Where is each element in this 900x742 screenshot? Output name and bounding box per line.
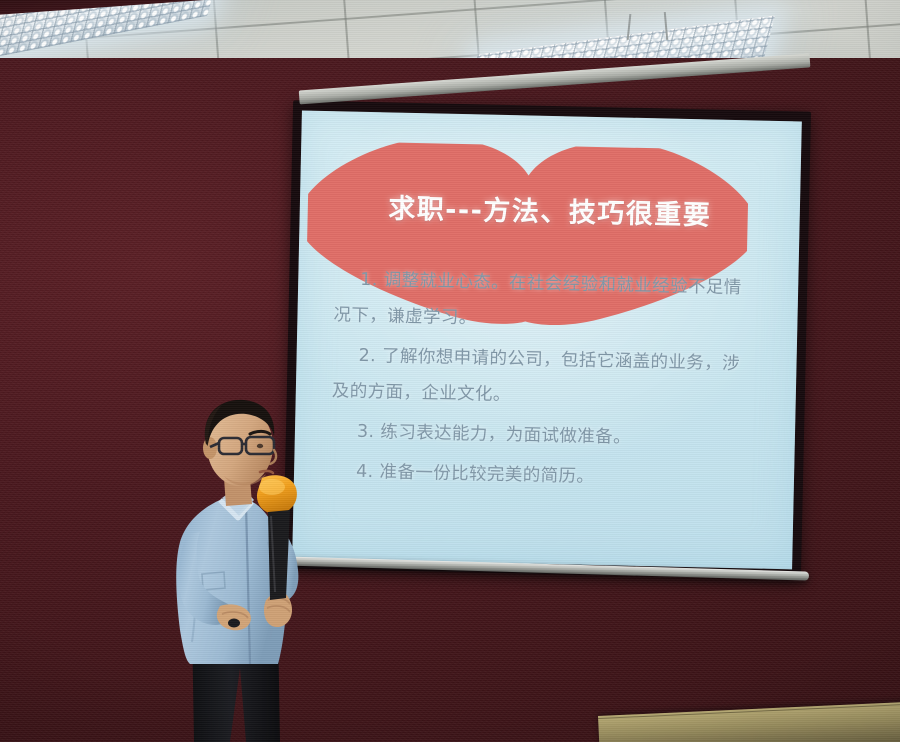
presenter-figure — [150, 392, 360, 742]
handheld-object — [228, 619, 240, 628]
bullet-3: 3. 练习表达能力，为面试做准备。 — [331, 413, 778, 459]
bullet-4: 4. 准备一份比较完美的简历。 — [330, 453, 777, 499]
presenter-mouth — [260, 471, 273, 473]
projection-screen-assembly: 求职---方法、技巧很重要 1. 调整就业心态。在社会经验和就业经验不足情 况下… — [283, 94, 817, 585]
presenter-ear — [203, 437, 217, 459]
projection-screen-frame: 求职---方法、技巧很重要 1. 调整就业心态。在社会经验和就业经验不足情 况下… — [283, 100, 811, 579]
slide-body: 1. 调整就业心态。在社会经验和就业经验不足情 况下，谦虚学习。 2. 了解你想… — [330, 261, 781, 503]
projection-screen-surface: 求职---方法、技巧很重要 1. 调整就业心态。在社会经验和就业经验不足情 况下… — [292, 111, 802, 570]
presentation-slide: 求职---方法、技巧很重要 1. 调整就业心态。在社会经验和就业经验不足情 况下… — [292, 111, 802, 570]
lecture-hall-photo: 求职---方法、技巧很重要 1. 调整就业心态。在社会经验和就业经验不足情 况下… — [0, 0, 900, 742]
